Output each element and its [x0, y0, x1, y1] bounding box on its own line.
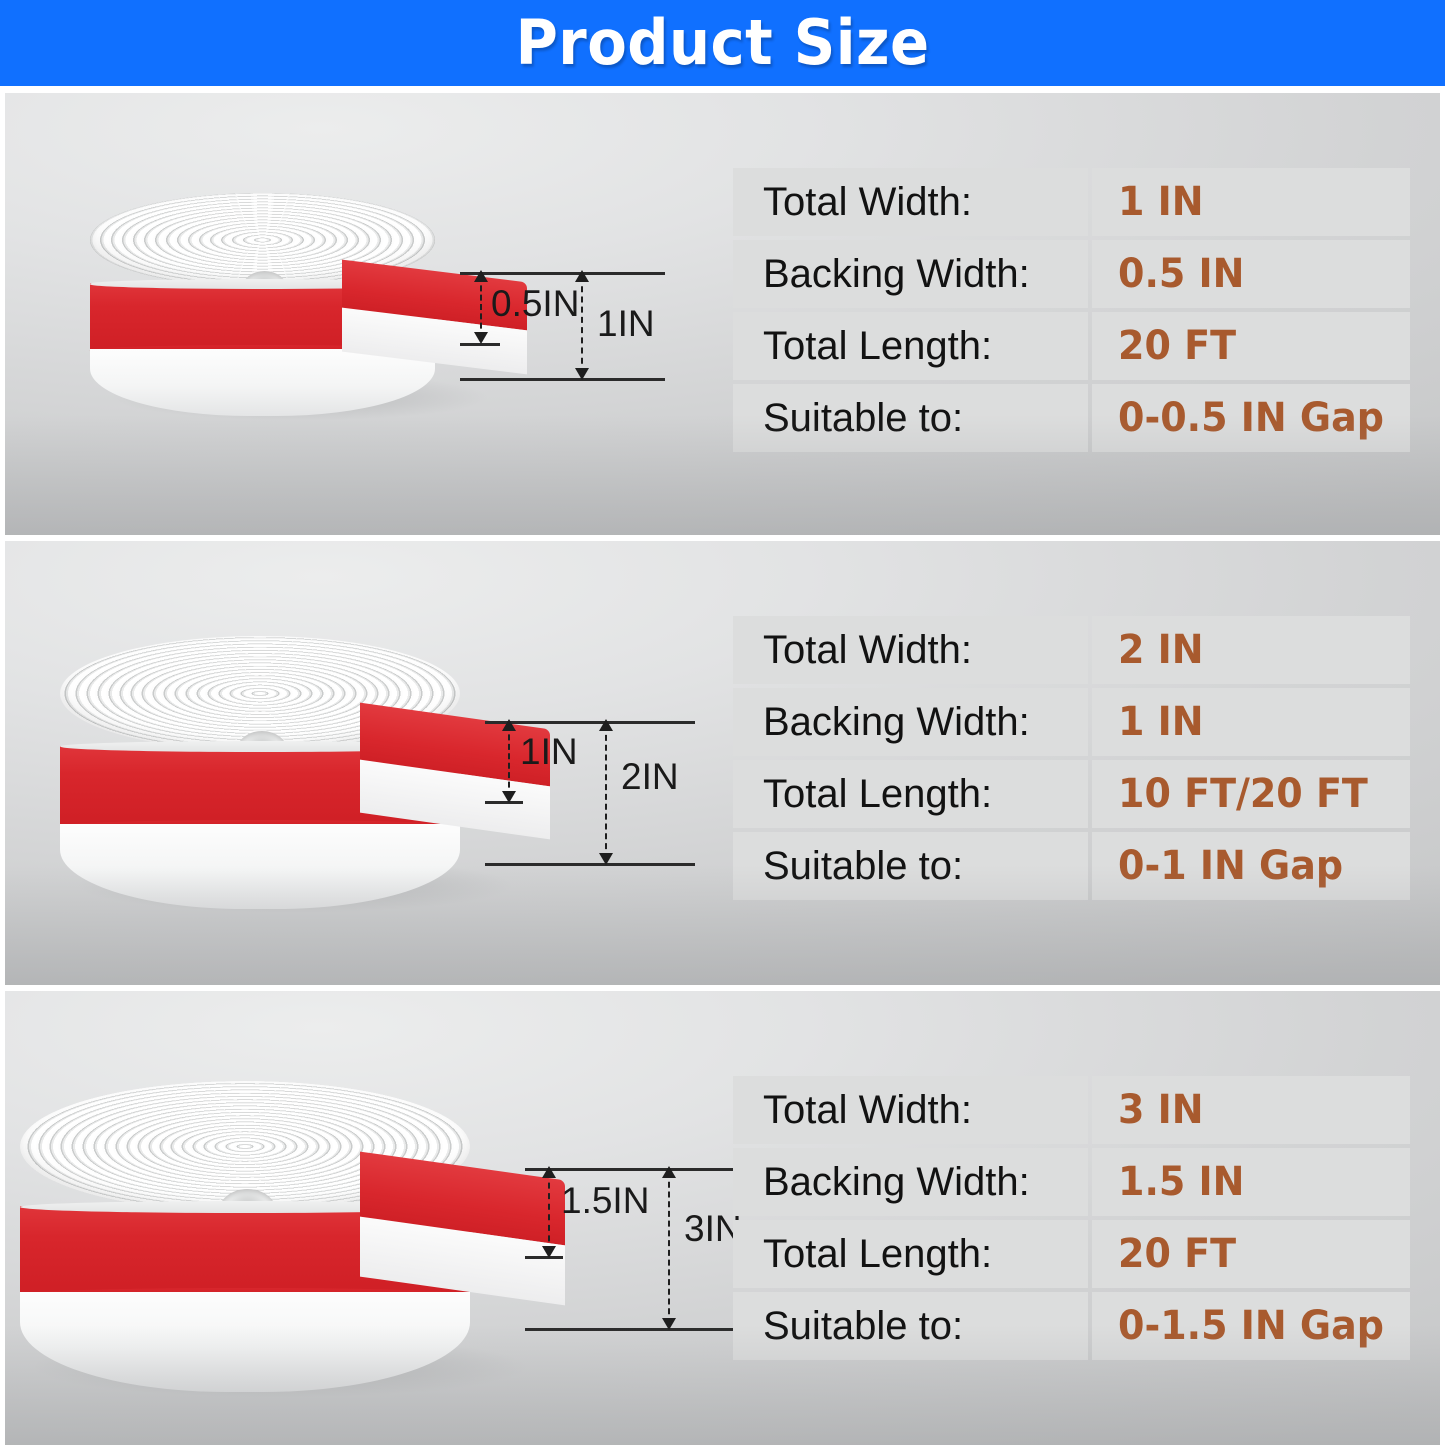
dim-label-total: 1IN	[597, 303, 655, 345]
spec-label-cell: Total Width:	[733, 1076, 1088, 1144]
spec-label-cell: Total Width:	[733, 168, 1088, 236]
dim-arrow-backing	[548, 1172, 550, 1252]
dim-arrowhead-total-top	[575, 270, 589, 282]
dim-extension-top	[525, 1168, 750, 1171]
spec-label-cell: Suitable to:	[733, 384, 1088, 452]
table-row: Backing Width: 1 IN	[733, 688, 1410, 756]
dim-extension-bottom	[525, 1328, 750, 1331]
table-row: Suitable to: 0-1.5 IN Gap	[733, 1292, 1410, 1360]
table-row: Suitable to: 0-0.5 IN Gap	[733, 384, 1410, 452]
table-row: Backing Width: 1.5 IN	[733, 1148, 1410, 1216]
spec-label-cell: Suitable to:	[733, 1292, 1088, 1360]
dim-extension-bottom	[485, 863, 695, 866]
spec-label-text: Total Width:	[763, 628, 972, 673]
spec-label-text: Suitable to:	[763, 396, 963, 441]
spec-label-text: Backing Width:	[763, 700, 1030, 745]
table-row: Total Length: 20 FT	[733, 312, 1410, 380]
spec-value-cell: 2 IN	[1092, 616, 1410, 684]
spec-label-text: Suitable to:	[763, 844, 963, 889]
table-row: Suitable to: 0-1 IN Gap	[733, 832, 1410, 900]
spec-value-text: 1.5 IN	[1118, 1159, 1244, 1205]
spec-value-cell: 3 IN	[1092, 1076, 1410, 1144]
spec-label-text: Total Width:	[763, 180, 972, 225]
dim-arrow-backing	[480, 276, 482, 338]
spec-value-text: 0-1 IN Gap	[1118, 843, 1343, 889]
dim-arrowhead-backing-bottom	[474, 332, 488, 344]
dim-extension-top	[460, 272, 665, 275]
dimension-callout-1: 0.5IN 1IN	[375, 248, 685, 408]
table-row: Backing Width: 0.5 IN	[733, 240, 1410, 308]
dim-arrowhead-total-bottom	[662, 1318, 676, 1330]
product-panel-2: 1IN 2IN Total Width: 2 IN Backing Width:	[5, 541, 1440, 985]
spec-value-cell: 20 FT	[1092, 1220, 1410, 1288]
dim-arrowhead-total-bottom	[575, 368, 589, 380]
product-size-infographic: Product Size 0.5IN	[0, 0, 1445, 1445]
tape-roll-image-2	[60, 636, 460, 886]
dim-arrowhead-total-bottom	[599, 853, 613, 865]
spec-value-text: 3 IN	[1118, 1087, 1204, 1133]
spec-value-text: 0-0.5 IN Gap	[1118, 395, 1384, 441]
dim-arrow-total	[581, 276, 583, 374]
spec-label-text: Total Length:	[763, 1232, 992, 1277]
product-panel-3: 1.5IN 3IN Total Width: 3 IN Backing Widt…	[5, 991, 1440, 1445]
spec-label-cell: Total Length:	[733, 1220, 1088, 1288]
spec-table-3: Total Width: 3 IN Backing Width: 1.5 IN …	[733, 1076, 1410, 1360]
spec-value-cell: 10 FT/20 FT	[1092, 760, 1410, 828]
spec-label-text: Backing Width:	[763, 252, 1030, 297]
spec-value-cell: 1.5 IN	[1092, 1148, 1410, 1216]
tape-roll-image-3	[20, 1081, 470, 1366]
table-row: Total Width: 1 IN	[733, 168, 1410, 236]
dim-arrowhead-backing-bottom	[542, 1246, 556, 1258]
spec-label-cell: Backing Width:	[733, 688, 1088, 756]
spec-value-text: 2 IN	[1118, 627, 1204, 673]
dimension-callout-2: 1IN 2IN	[425, 691, 745, 871]
spec-label-cell: Backing Width:	[733, 240, 1088, 308]
spec-label-text: Suitable to:	[763, 1304, 963, 1349]
spec-value-cell: 0.5 IN	[1092, 240, 1410, 308]
dim-label-total: 2IN	[621, 756, 679, 798]
spec-value-cell: 20 FT	[1092, 312, 1410, 380]
dim-arrowhead-total-top	[662, 1166, 676, 1178]
spec-value-text: 1 IN	[1118, 179, 1204, 225]
product-panel-1: 0.5IN 1IN Total Width: 1 IN Backing Widt…	[5, 93, 1440, 535]
dim-extension-bottom	[460, 378, 665, 381]
dim-arrowhead-backing-top	[502, 719, 516, 731]
spec-value-text: 0.5 IN	[1118, 251, 1244, 297]
spec-label-text: Backing Width:	[763, 1160, 1030, 1205]
spec-table-1: Total Width: 1 IN Backing Width: 0.5 IN …	[733, 168, 1410, 452]
dim-arrow-total	[668, 1172, 670, 1324]
header-banner: Product Size	[0, 0, 1445, 86]
dim-arrowhead-total-top	[599, 719, 613, 731]
dim-label-backing: 0.5IN	[491, 283, 579, 325]
spec-value-cell: 1 IN	[1092, 168, 1410, 236]
spec-value-text: 10 FT/20 FT	[1118, 771, 1368, 817]
dim-arrowhead-backing-bottom	[502, 791, 516, 803]
spec-label-text: Total Width:	[763, 1088, 972, 1133]
spec-value-cell: 0-0.5 IN Gap	[1092, 384, 1410, 452]
table-row: Total Width: 3 IN	[733, 1076, 1410, 1144]
page-title: Product Size	[516, 12, 930, 74]
spec-value-text: 1 IN	[1118, 699, 1204, 745]
dim-label-backing: 1.5IN	[561, 1180, 649, 1222]
spec-label-text: Total Length:	[763, 772, 992, 817]
dim-arrow-total	[605, 725, 607, 859]
spec-value-text: 0-1.5 IN Gap	[1118, 1303, 1384, 1349]
spec-label-cell: Total Length:	[733, 760, 1088, 828]
spec-label-cell: Total Length:	[733, 312, 1088, 380]
dim-arrowhead-backing-top	[542, 1166, 556, 1178]
table-row: Total Width: 2 IN	[733, 616, 1410, 684]
spec-label-text: Total Length:	[763, 324, 992, 369]
table-row: Total Length: 20 FT	[733, 1220, 1410, 1288]
spec-label-cell: Suitable to:	[733, 832, 1088, 900]
dim-extension-top	[485, 721, 695, 724]
spec-table-2: Total Width: 2 IN Backing Width: 1 IN To…	[733, 616, 1410, 900]
spec-value-cell: 1 IN	[1092, 688, 1410, 756]
spec-label-cell: Total Width:	[733, 616, 1088, 684]
spec-value-text: 20 FT	[1118, 323, 1236, 369]
spec-label-cell: Backing Width:	[733, 1148, 1088, 1216]
spec-value-text: 20 FT	[1118, 1231, 1236, 1277]
dim-arrowhead-backing-top	[474, 270, 488, 282]
dim-arrow-backing	[508, 725, 510, 797]
table-row: Total Length: 10 FT/20 FT	[733, 760, 1410, 828]
spec-value-cell: 0-1.5 IN Gap	[1092, 1292, 1410, 1360]
dim-label-backing: 1IN	[520, 731, 578, 773]
spec-value-cell: 0-1 IN Gap	[1092, 832, 1410, 900]
